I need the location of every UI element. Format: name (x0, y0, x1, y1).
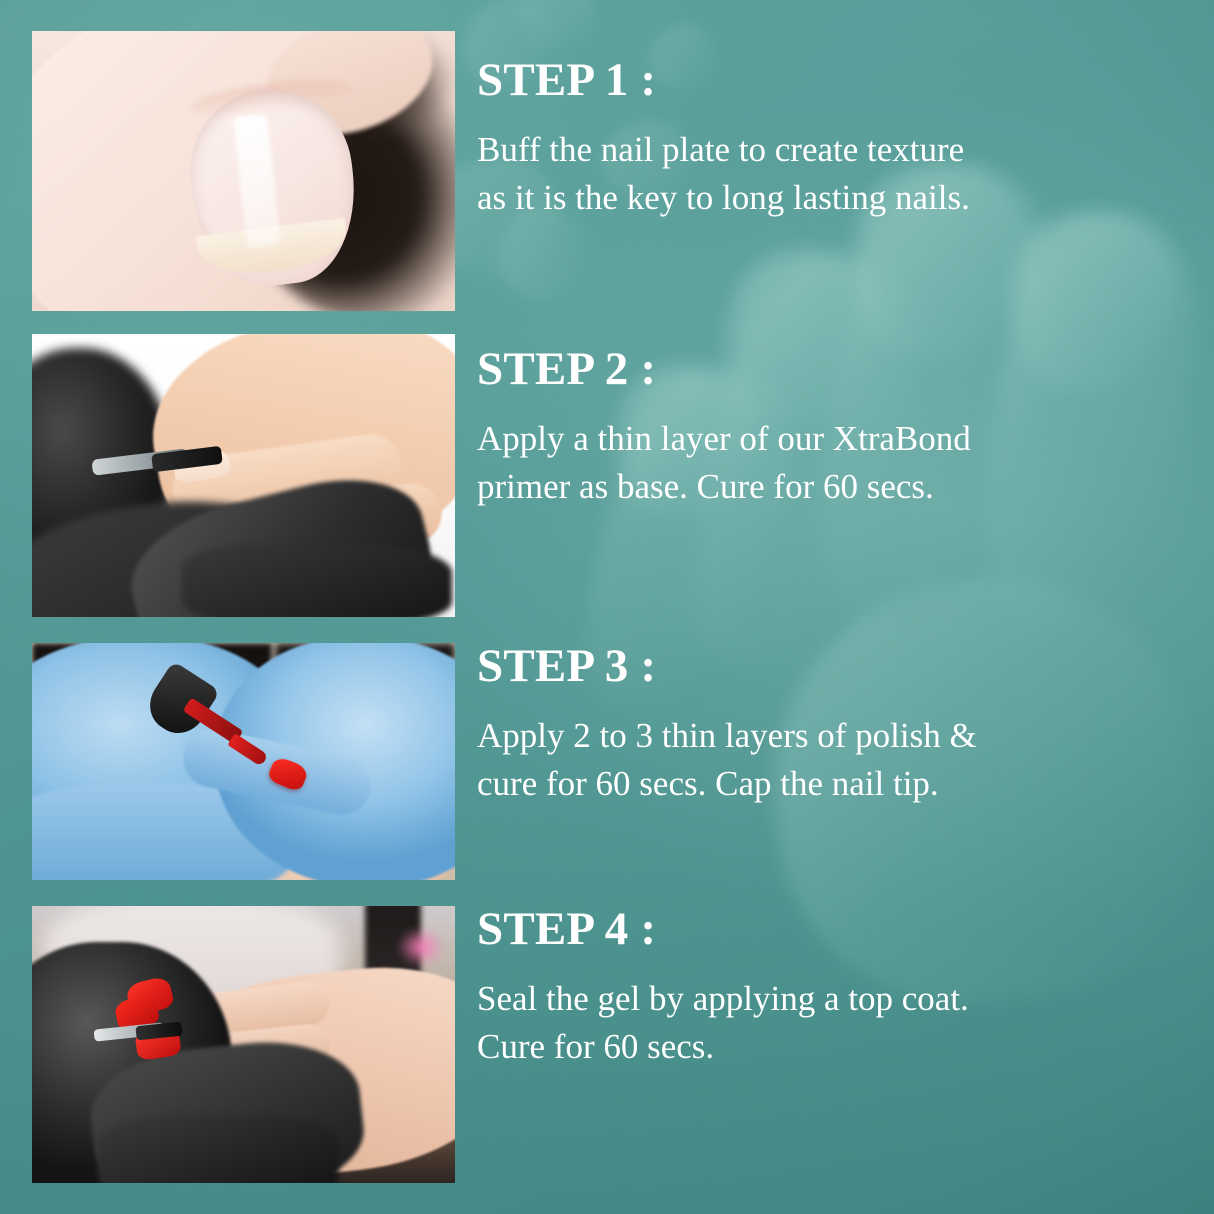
step-1-title: STEP 1 : (477, 57, 1177, 104)
body-line: primer as base. Cure for 60 secs. (477, 463, 1167, 511)
steps-infographic: STEP 1 : Buff the nail plate to create t… (0, 0, 1214, 1214)
step-3-copy: STEP 3 : Apply 2 to 3 thin layers of pol… (477, 643, 1177, 809)
step-4-body: Seal the gel by applying a top coat. Cur… (477, 975, 1167, 1072)
step-1-copy: STEP 1 : Buff the nail plate to create t… (477, 57, 1177, 223)
body-line: Buff the nail plate to create texture (477, 126, 1167, 174)
body-line: as it is the key to long lasting nails. (477, 174, 1167, 222)
body-line: Apply a thin layer of our XtraBond (477, 415, 1167, 463)
body-line: cure for 60 secs. Cap the nail tip. (477, 760, 1167, 808)
step-row-4: STEP 4 : Seal the gel by applying a top … (0, 906, 1214, 1183)
step-row-1: STEP 1 : Buff the nail plate to create t… (0, 31, 1214, 311)
body-line: Apply 2 to 3 thin layers of polish & (477, 712, 1167, 760)
step-4-title: STEP 4 : (477, 906, 1177, 953)
step-3-body: Apply 2 to 3 thin layers of polish & cur… (477, 712, 1167, 809)
step-1-body: Buff the nail plate to create texture as… (477, 126, 1167, 223)
step-row-2: STEP 2 : Apply a thin layer of our XtraB… (0, 334, 1214, 617)
step-2-copy: STEP 2 : Apply a thin layer of our XtraB… (477, 346, 1177, 512)
step-2-body: Apply a thin layer of our XtraBond prime… (477, 415, 1167, 512)
step-2-photo (32, 334, 455, 617)
body-line: Seal the gel by applying a top coat. (477, 975, 1167, 1023)
step-row-3: STEP 3 : Apply 2 to 3 thin layers of pol… (0, 643, 1214, 880)
pink-bokeh (393, 924, 449, 970)
glove-cuff (182, 544, 452, 617)
step-3-photo (32, 643, 455, 880)
glove-cuff (98, 1116, 338, 1183)
step-1-photo (32, 31, 455, 311)
step-3-title: STEP 3 : (477, 643, 1177, 690)
step-2-title: STEP 2 : (477, 346, 1177, 393)
step-4-copy: STEP 4 : Seal the gel by applying a top … (477, 906, 1177, 1072)
body-line: Cure for 60 secs. (477, 1023, 1167, 1071)
step-4-photo (32, 906, 455, 1183)
